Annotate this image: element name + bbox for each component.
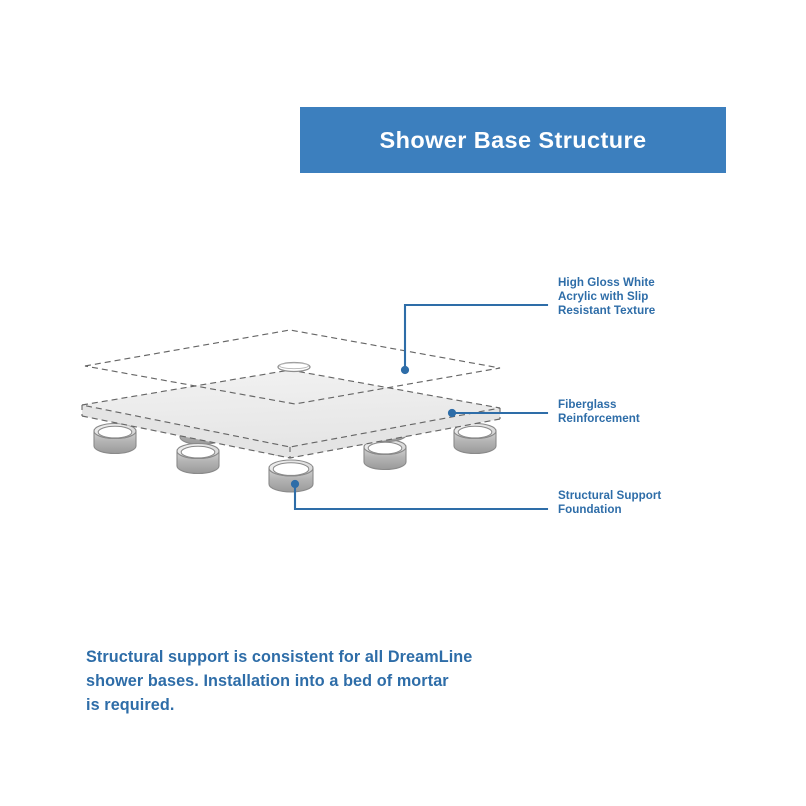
- annotation-label-structural-support: Structural Support Foundation: [558, 489, 661, 517]
- ring-bore: [273, 463, 309, 476]
- support-ring: [269, 460, 313, 492]
- ring-bore: [368, 442, 402, 454]
- annotation-label-fiberglass: Fiberglass Reinforcement: [558, 398, 640, 426]
- leader-structural-support-foundation: [291, 480, 547, 509]
- ring-bore: [181, 446, 215, 458]
- footer-caption: Structural support is consistent for all…: [86, 645, 506, 717]
- diagram-canvas: Shower Base Structure: [0, 0, 806, 806]
- ring-bore: [458, 426, 492, 438]
- leader-dot: [448, 409, 456, 417]
- drain-inner-ellipse: [280, 363, 309, 369]
- leader-line: [295, 484, 547, 509]
- support-ring: [364, 440, 406, 470]
- support-ring: [94, 424, 136, 454]
- ring-bore: [98, 426, 132, 438]
- support-ring: [177, 444, 219, 474]
- leader-dot: [291, 480, 299, 488]
- annotation-label-acrylic: High Gloss White Acrylic with Slip Resis…: [558, 276, 655, 319]
- leader-dot: [401, 366, 409, 374]
- support-ring: [454, 424, 496, 454]
- acrylic-top-layer: [85, 330, 500, 404]
